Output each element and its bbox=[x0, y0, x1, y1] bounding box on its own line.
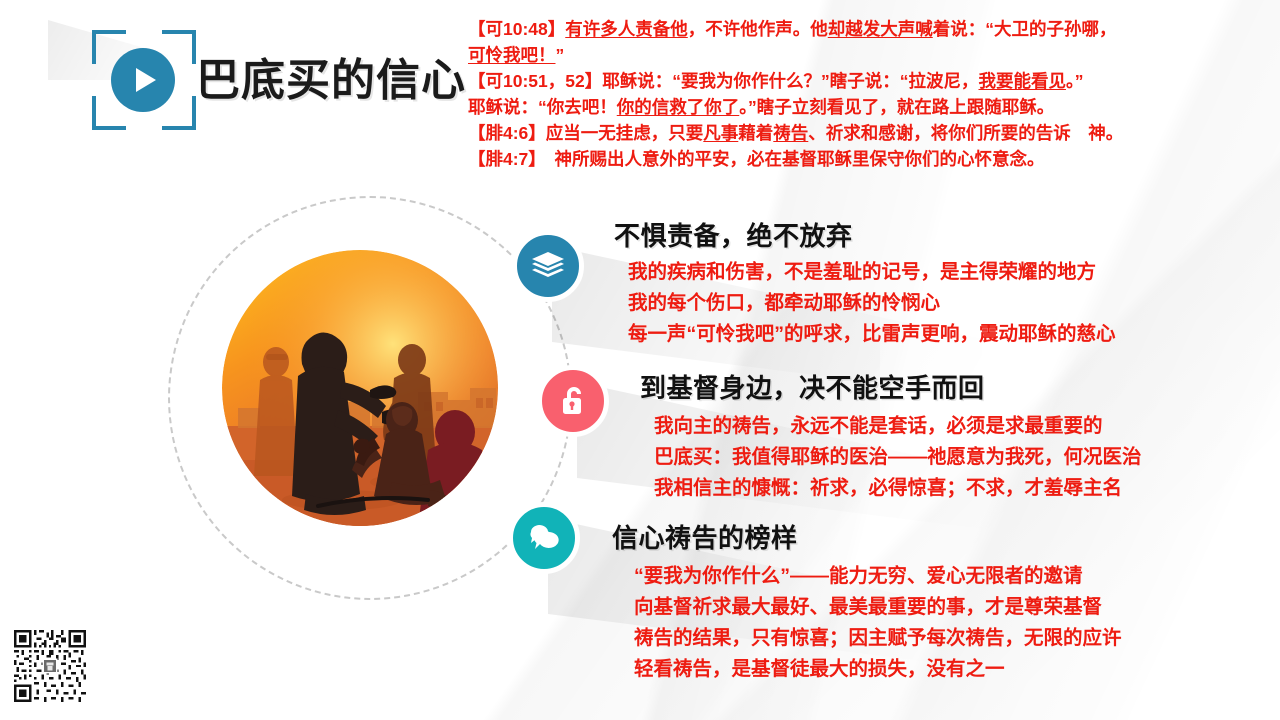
section-bullet: 我的疾病和伤害，不是羞耻的记号，是主得荣耀的地方 bbox=[628, 257, 1116, 288]
section-heading: 到基督身边，决不能空手而回 bbox=[640, 368, 1142, 405]
section-bullet: 我相信主的慷慨：祈求，必得惊喜；不求，才羞辱主名 bbox=[654, 473, 1142, 504]
scripture-block: 【可10:48】有许多人责备他，不许他作声。他却越发大声喊着说：“大卫的子孙哪，… bbox=[468, 16, 1268, 172]
jesus-healing-blind-man-illustration bbox=[222, 250, 498, 526]
section-heading: 不惧责备，绝不放弃 bbox=[614, 216, 1116, 253]
scripture-line: 【腓4:6】应当一无挂虑，只要凡事藉着祷告、祈求和感谢，将你们所要的告诉 神。 bbox=[468, 120, 1268, 146]
section-heading: 信心祷告的榜样 bbox=[612, 518, 1122, 555]
section-bullet: 每一声“可怜我吧”的呼求，比雷声更响，震动耶稣的慈心 bbox=[628, 319, 1116, 350]
section-bullet: 向基督祈求最大最好、最美最重要的事，才是尊荣基督 bbox=[634, 592, 1122, 623]
scripture-line: 耶稣说：“你去吧！你的信救了你了。”瞎子立刻看见了，就在路上跟随耶稣。 bbox=[468, 94, 1268, 120]
layers-icon[interactable] bbox=[512, 230, 584, 302]
scripture-line: 【可10:48】有许多人责备他，不许他作声。他却越发大声喊着说：“大卫的子孙哪， bbox=[468, 16, 1268, 42]
qr-code[interactable] bbox=[14, 630, 86, 702]
logo-mark bbox=[92, 30, 196, 130]
section-block-2: 到基督身边，决不能空手而回 我向主的祷告，永远不能是套话，必须是求最重要的 巴底… bbox=[640, 368, 1142, 504]
scripture-line: 【可10:51，52】耶稣说：“要我为你作什么？”瞎子说：“拉波尼，我要能看见。… bbox=[468, 68, 1268, 94]
section-block-3: 信心祷告的榜样 “要我为你作什么”——能力无穷、爱心无限者的邀请 向基督祈求最大… bbox=[612, 518, 1122, 685]
section-bullet: 轻看祷告，是基督徒最大的损失，没有之一 bbox=[634, 654, 1122, 685]
scripture-line: 可怜我吧！” bbox=[468, 42, 1268, 68]
speech-bubbles-icon[interactable] bbox=[508, 502, 580, 574]
section-block-1: 不惧责备，绝不放弃 我的疾病和伤害，不是羞耻的记号，是主得荣耀的地方 我的每个伤… bbox=[614, 216, 1116, 350]
unlock-icon[interactable] bbox=[537, 365, 609, 437]
section-bullet: 祷告的结果，只有惊喜；因主赋予每次祷告，无限的应许 bbox=[634, 623, 1122, 654]
section-bullet: “要我为你作什么”——能力无穷、爱心无限者的邀请 bbox=[634, 561, 1122, 592]
section-bullet: 巴底买：我值得耶稣的医治——祂愿意为我死，何况医治 bbox=[654, 442, 1142, 473]
play-button-icon[interactable] bbox=[111, 48, 175, 112]
page-title: 巴底买的信心 bbox=[196, 44, 466, 108]
section-bullet: 我的每个伤口，都牵动耶稣的怜悯心 bbox=[628, 288, 1116, 319]
slide-canvas: 巴底买的信心 【可10:48】有许多人责备他，不许他作声。他却越发大声喊着说：“… bbox=[0, 0, 1280, 720]
section-bullet: 我向主的祷告，永远不能是套话，必须是求最重要的 bbox=[654, 411, 1142, 442]
scripture-line: 【腓4:7】 神所赐出人意外的平安，必在基督耶稣里保守你们的心怀意念。 bbox=[468, 146, 1268, 172]
